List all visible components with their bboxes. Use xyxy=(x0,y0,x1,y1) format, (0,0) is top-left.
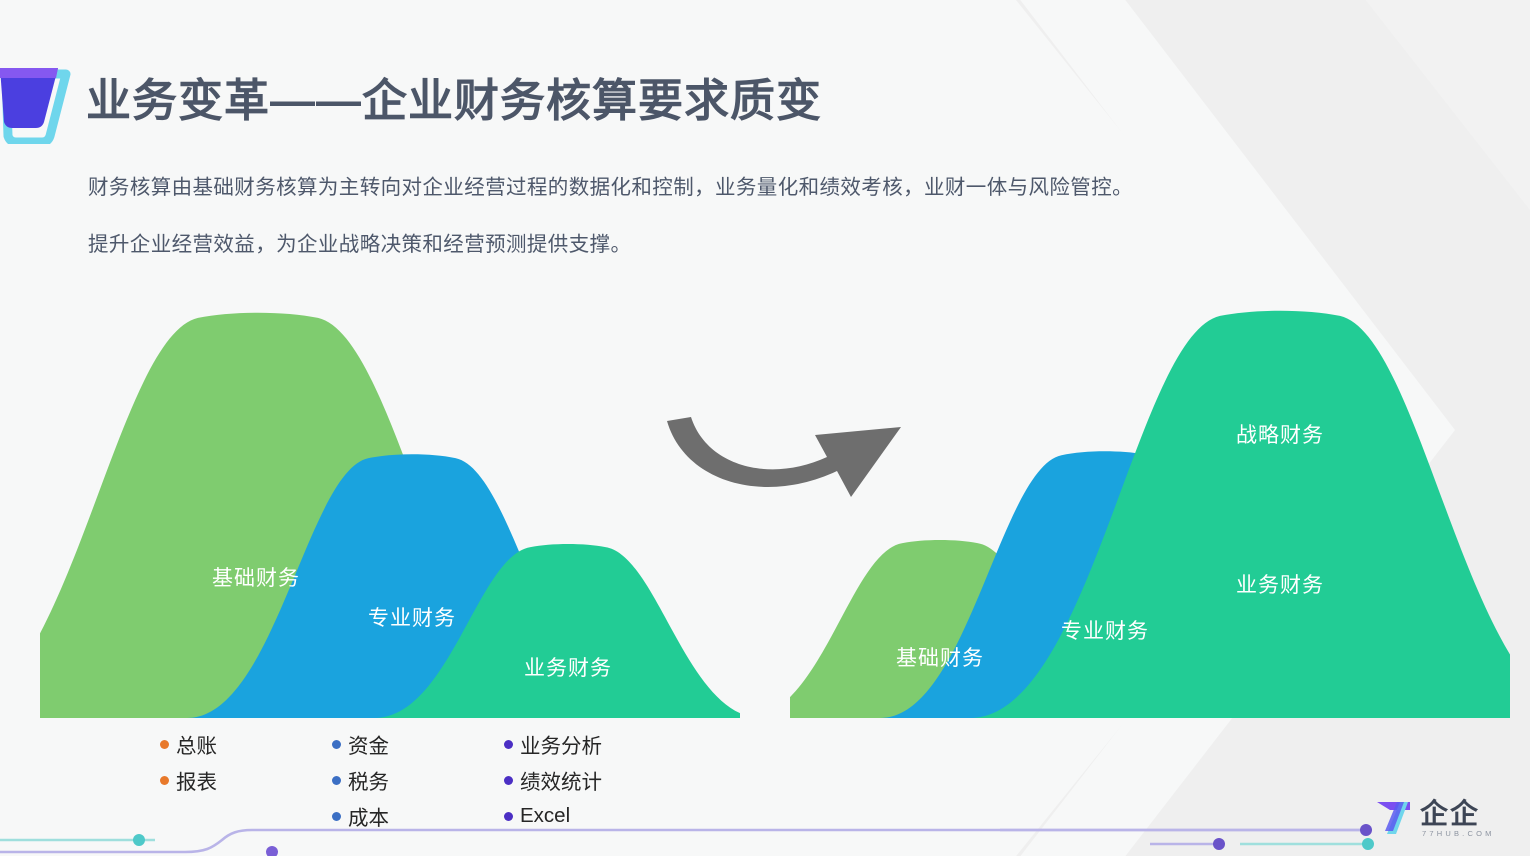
curve-label-3: 战略财务 xyxy=(1236,424,1324,447)
footer-decoration xyxy=(0,796,1530,856)
brand-name: 企企 xyxy=(1420,800,1480,828)
chart-after: 基础财务专业财务战略财务业务财务 xyxy=(790,280,1510,730)
bullet-dot-icon xyxy=(332,740,341,749)
page-title: 业务变革——企业财务核算要求质变 xyxy=(86,74,822,128)
bullet-dot-icon xyxy=(504,740,513,749)
curve-label-3: 业务财务 xyxy=(524,657,612,680)
chart-before-svg: 基础财务专业财务业务财务 xyxy=(40,280,740,730)
bullet-dot-icon xyxy=(332,776,341,785)
seven-hub-mark-icon xyxy=(1374,798,1416,838)
legend-item[interactable]: 税务 xyxy=(332,762,389,798)
legend-column-1: 总账报表 xyxy=(160,726,217,798)
legend-item[interactable]: 资金 xyxy=(332,726,389,762)
legend-item[interactable]: 总账 xyxy=(160,726,217,762)
title-badge-icon xyxy=(0,60,74,144)
bullet-dot-icon xyxy=(504,776,513,785)
curve-group-before: 基础财务专业财务业务财务 xyxy=(40,313,740,718)
curve-label-2: 专业财务 xyxy=(368,607,456,630)
legend-item[interactable]: 业务分析 xyxy=(504,726,602,762)
curve-label-3b: 业务财务 xyxy=(1236,574,1324,597)
brand-domain: 77HUB.COM xyxy=(1422,829,1495,838)
curve-group-after: 基础财务专业财务战略财务业务财务 xyxy=(790,311,1510,718)
legend-item-label: 业务分析 xyxy=(520,729,602,759)
legend-item-label: 报表 xyxy=(176,765,217,795)
chart-after-svg: 基础财务专业财务战略财务业务财务 xyxy=(790,280,1510,730)
legend-item[interactable]: 绩效统计 xyxy=(504,762,602,798)
legend-item[interactable]: 报表 xyxy=(160,762,217,798)
legend-item-label: 资金 xyxy=(348,729,389,759)
slide-root: 业务变革——企业财务核算要求质变 财务核算由基础财务核算为主转向对企业经营过程的… xyxy=(0,0,1530,856)
chart-before: 基础财务专业财务业务财务 xyxy=(40,280,740,730)
intro-paragraph-2: 提升企业经营效益，为企业战略决策和经营预测提供支撑。 xyxy=(88,227,631,257)
bullet-dot-icon xyxy=(160,740,169,749)
intro-paragraph-1: 财务核算由基础财务核算为主转向对企业经营过程的数据化和控制，业务量化和绩效考核，… xyxy=(88,170,1133,200)
legend-item-label: 总账 xyxy=(176,729,217,759)
legend-item-label: 绩效统计 xyxy=(520,765,602,795)
bullet-dot-icon xyxy=(160,776,169,785)
curve-label-2: 专业财务 xyxy=(1061,620,1149,643)
curve-label-1: 基础财务 xyxy=(896,647,984,670)
brand-logo: 企企 77HUB.COM xyxy=(1374,798,1508,846)
legend-item-label: 税务 xyxy=(348,765,389,795)
curve-label-1: 基础财务 xyxy=(212,567,300,590)
